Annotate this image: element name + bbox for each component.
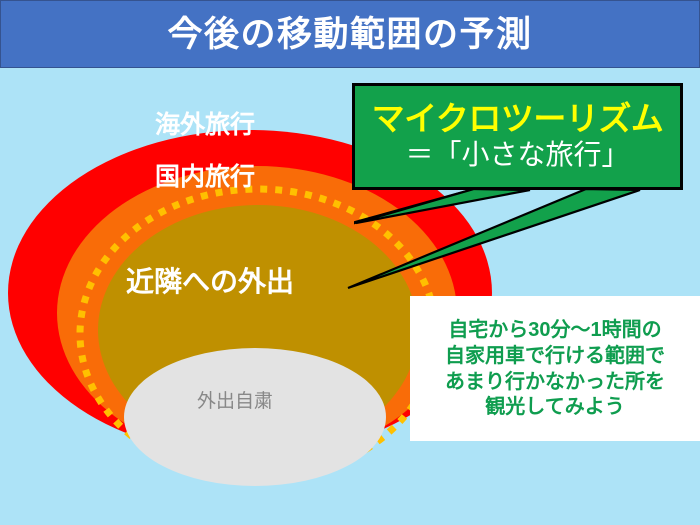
page-title: 今後の移動範囲の予測: [0, 0, 700, 68]
micro-tourism-term: マイクロツーリズム: [372, 101, 664, 138]
micro-tourism-definition: ＝「小さな旅行」: [405, 139, 629, 171]
description-line-3: あまり行かなかった所を: [445, 370, 665, 396]
description-line-1: 自宅から30分〜1時間の: [448, 318, 661, 344]
description-callout: 自宅から30分〜1時間の 自家用車で行ける範囲で あまり行かなかった所を 観光し…: [410, 296, 700, 441]
micro-tourism-callout: マイクロツーリズム ＝「小さな旅行」: [352, 83, 683, 190]
description-line-4: 観光してみよう: [485, 395, 624, 421]
description-line-2: 自家用車で行ける範囲で: [445, 344, 665, 370]
ring-stay-home: [124, 348, 386, 486]
slide-canvas: 今後の移動範囲の予測 海外旅行 国内旅行 近隣への外出 外出自粛 マイクロツーリ…: [0, 0, 700, 525]
